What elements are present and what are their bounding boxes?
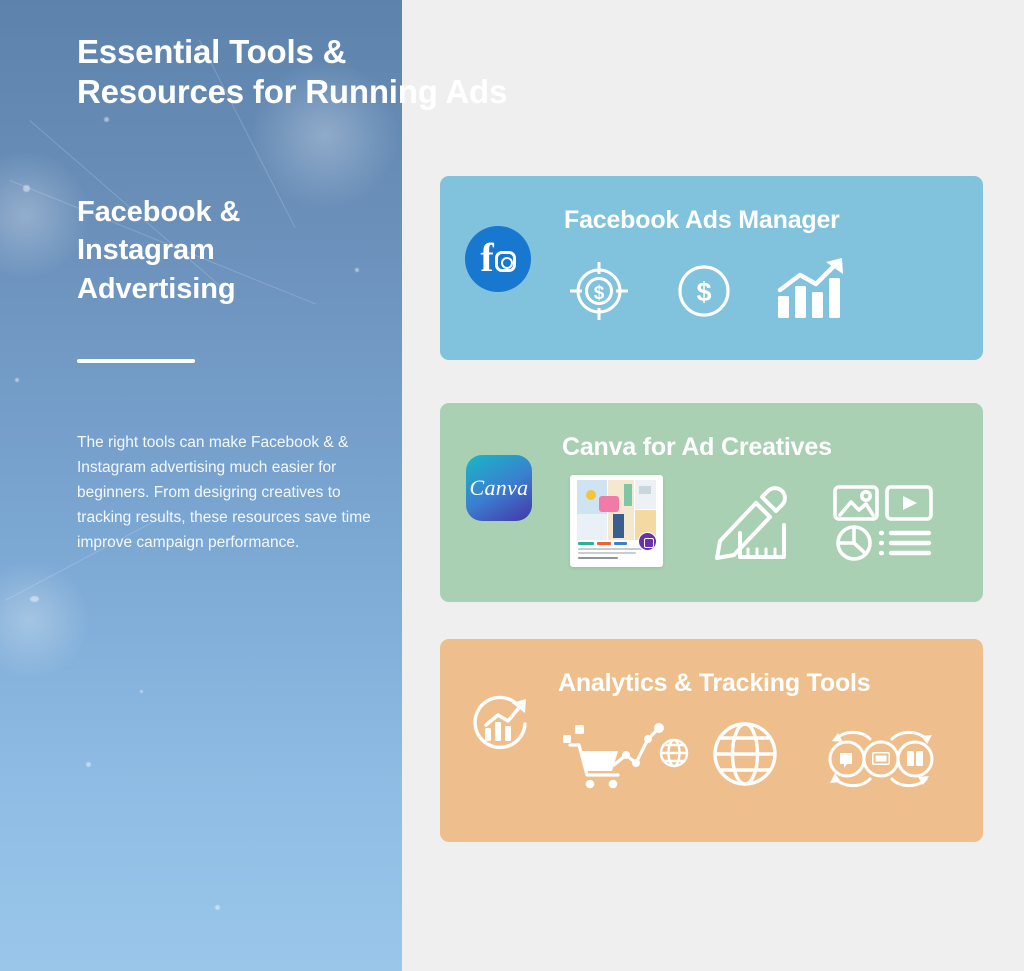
subheading-line-2: Instagram bbox=[77, 231, 377, 269]
left-panel: Facebook & Instagram Advertising The rig… bbox=[0, 0, 402, 971]
instagram-camera-icon bbox=[495, 251, 516, 272]
template-thumbnail[interactable] bbox=[570, 475, 663, 567]
decor-dot bbox=[30, 596, 39, 602]
subheading-line-1: Facebook & bbox=[77, 193, 377, 231]
svg-text:$: $ bbox=[594, 283, 605, 304]
card-facebook-ads-manager[interactable]: Facebook Ads Manager f $ bbox=[440, 176, 983, 360]
decor-dot bbox=[140, 690, 143, 693]
thumbnail-badge-icon bbox=[638, 532, 657, 551]
cart-trendline-globe-icon bbox=[562, 719, 690, 791]
decor-dot bbox=[15, 378, 19, 382]
social-cycle-icon bbox=[822, 715, 940, 799]
sidebar-body-text: The right tools can make Facebook & & In… bbox=[77, 430, 387, 556]
sidebar-subheading: Facebook & Instagram Advertising bbox=[77, 193, 377, 308]
page-title: Essential Tools & Resources for Running … bbox=[77, 32, 697, 113]
pencil-ruler-icon bbox=[712, 485, 790, 561]
decor-dot bbox=[86, 762, 91, 767]
media-grid-icon bbox=[833, 485, 933, 561]
canva-wordmark: Canva bbox=[470, 475, 529, 501]
growth-circle-icon bbox=[468, 691, 534, 757]
page-title-line-1: Essential Tools & bbox=[77, 32, 697, 72]
bar-chart-growth-icon bbox=[776, 256, 846, 320]
decor-dot bbox=[215, 905, 220, 910]
decor-dot bbox=[23, 185, 30, 192]
card-canva-ad-creatives[interactable]: Canva for Ad Creatives Canva bbox=[440, 403, 983, 602]
facebook-f-icon: f bbox=[480, 238, 493, 278]
svg-text:$: $ bbox=[696, 277, 711, 307]
card-title: Canva for Ad Creatives bbox=[562, 433, 832, 462]
card-analytics-tracking-tools[interactable]: Analytics & Tracking Tools bbox=[440, 639, 983, 842]
card-title: Facebook Ads Manager bbox=[564, 206, 840, 235]
page-title-line-2: Resources for Running Ads bbox=[77, 72, 697, 112]
dollar-coin-icon: $ bbox=[675, 262, 733, 320]
card-title: Analytics & Tracking Tools bbox=[558, 669, 870, 698]
subheading-line-3: Advertising bbox=[77, 270, 377, 308]
thumbnail-artwork bbox=[577, 480, 656, 540]
target-dollar-icon: $ bbox=[568, 260, 630, 322]
facebook-instagram-logo: f bbox=[465, 226, 531, 292]
cards-column: Facebook Ads Manager f $ bbox=[440, 0, 985, 971]
infographic-root: Facebook & Instagram Advertising The rig… bbox=[0, 0, 1024, 971]
decor-dot bbox=[104, 117, 109, 122]
canva-logo: Canva bbox=[466, 455, 532, 521]
globe-icon bbox=[706, 715, 784, 793]
divider-rule bbox=[77, 359, 195, 363]
